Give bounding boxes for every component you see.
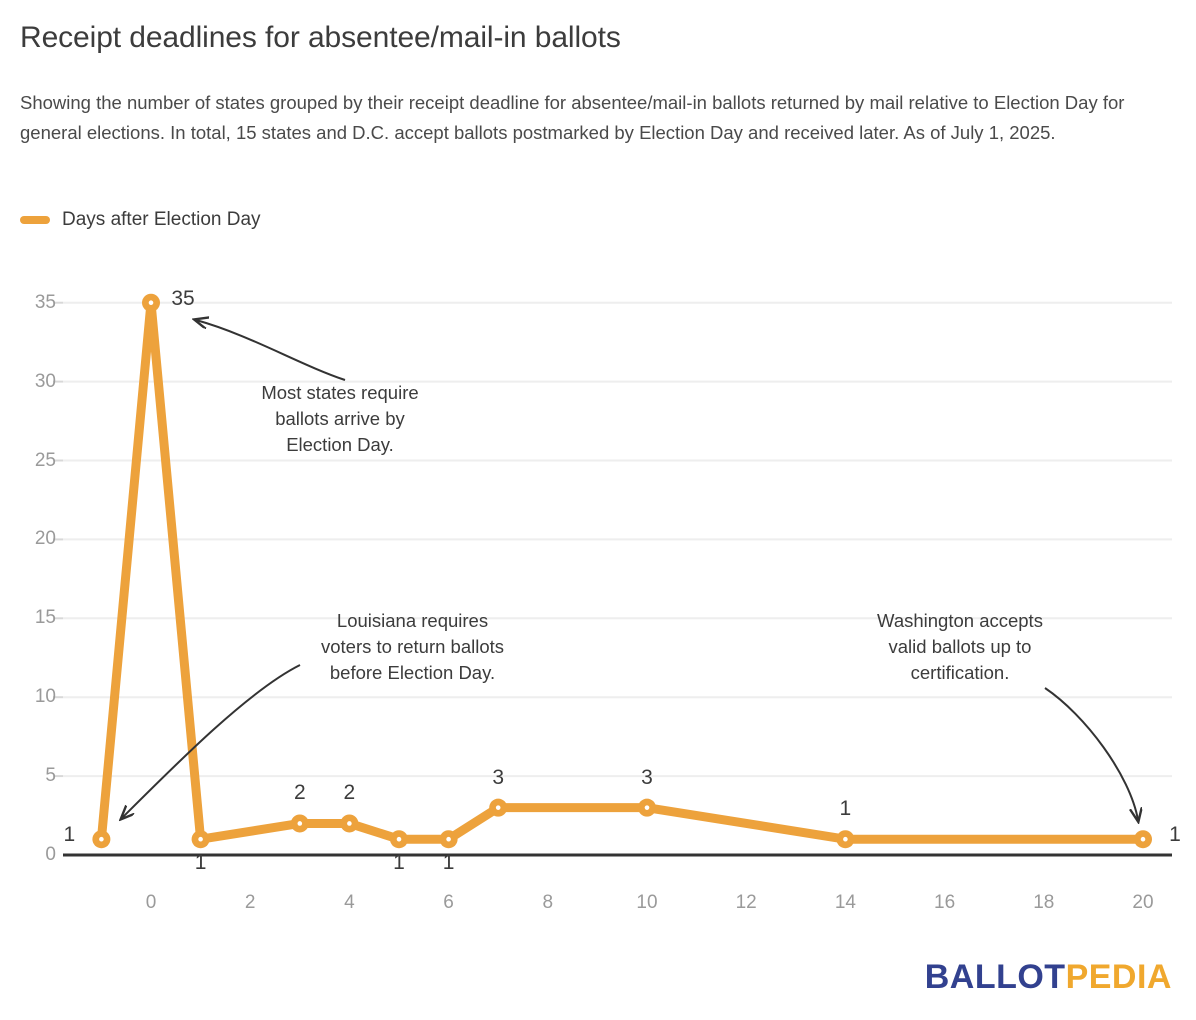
y-axis-tick-label: 20 [10,528,56,550]
logo-ballot-text: BALLOT [925,958,1066,996]
logo-pedia-text: PEDIA [1066,958,1172,996]
y-axis-tick-label: 35 [10,292,56,314]
y-axis-tick-label: 25 [10,450,56,472]
ballotpedia-logo: BALLOTPEDIA [925,958,1172,997]
data-point-label: 1 [840,797,852,821]
x-axis-tick-label: 18 [1033,892,1054,914]
y-axis-tick-label: 10 [10,686,56,708]
data-point-label: 1 [195,851,207,875]
data-point-label: 1 [393,851,405,875]
x-axis-tick-label: 16 [934,892,955,914]
x-axis-tick-label: 10 [636,892,657,914]
page-title: Receipt deadlines for absentee/mail-in b… [20,20,1170,56]
chart-annotation-most-states: Most states require ballots arrive by El… [240,380,440,458]
data-point-label: 3 [492,766,504,790]
chart-annotation-louisiana: Louisiana requires voters to return ball… [305,608,520,686]
chart-annotation-washington: Washington accepts valid ballots up to c… [855,608,1065,686]
x-axis-tick-label: 4 [344,892,355,914]
x-axis-tick-label: 8 [543,892,554,914]
line-chart-plot [0,0,1196,1020]
data-point-label: 1 [64,823,76,847]
x-axis-tick-label: 12 [736,892,757,914]
data-point-label: 3 [641,766,653,790]
x-axis-tick-label: 0 [146,892,157,914]
x-axis-tick-label: 2 [245,892,256,914]
x-axis-tick-label: 14 [835,892,856,914]
y-axis-tick-label: 0 [10,844,56,866]
y-axis-tick-label: 5 [10,765,56,787]
data-point-label: 1 [1169,823,1181,847]
x-axis-tick-label: 20 [1132,892,1153,914]
data-point-label: 2 [294,781,306,805]
legend-item-label: Days after Election Day [62,209,261,231]
chart-legend: Days after Election Day [20,209,261,231]
data-point-label: 35 [171,287,194,311]
chart-subtitle: Showing the number of states grouped by … [20,88,1180,148]
x-axis-tick-label: 6 [443,892,454,914]
y-axis-tick-label: 30 [10,371,56,393]
data-point-label: 1 [443,851,455,875]
y-axis-tick-label: 15 [10,607,56,629]
data-point-label: 2 [344,781,356,805]
legend-swatch-icon [20,216,50,224]
